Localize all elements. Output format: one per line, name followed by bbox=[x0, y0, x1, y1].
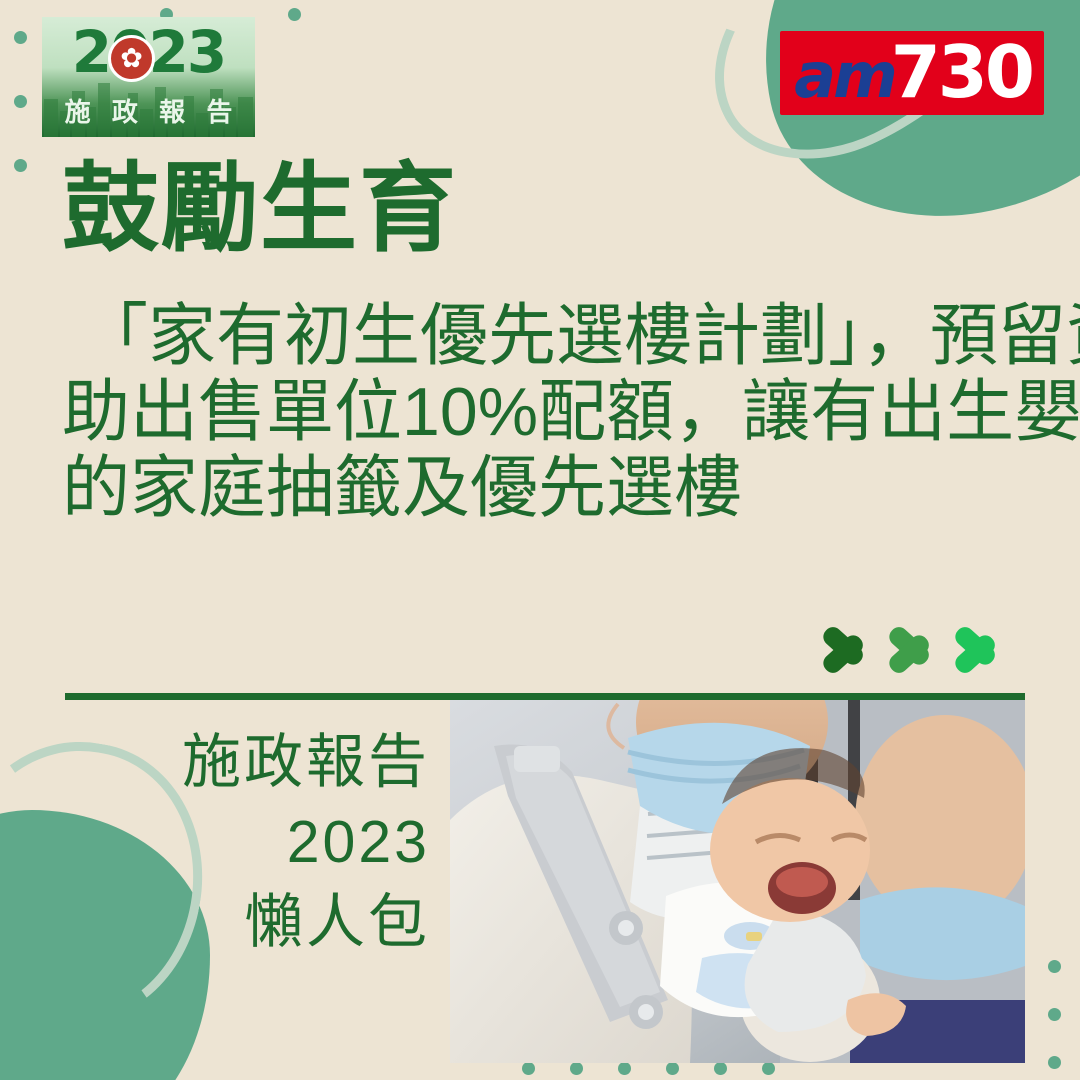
chevron-right-icon bbox=[892, 612, 926, 688]
chevron-right-icon bbox=[826, 612, 860, 688]
caption-line-1: 施政報告 bbox=[120, 722, 430, 802]
decorative-dot bbox=[14, 95, 27, 108]
decorative-dot bbox=[1048, 1008, 1061, 1021]
am730-logo-730: 730 bbox=[891, 30, 1032, 114]
logo-subtitle: 施 政 報 告 bbox=[42, 92, 255, 129]
caption-line-3: 懶人包 bbox=[120, 882, 430, 962]
body-line-2: 助出售單位10%配額，讓有出生嬰兒 bbox=[62, 374, 1032, 450]
photo-illustration bbox=[450, 700, 1025, 1063]
decorative-dot bbox=[618, 1062, 631, 1075]
social-card: 2023 ✿ 施 政 報 告 am730 鼓勵生育 「家有初生優先選樓計劃」，預… bbox=[0, 0, 1080, 1080]
decorative-dot bbox=[714, 1062, 727, 1075]
divider-line bbox=[65, 693, 1025, 700]
decorative-dot bbox=[762, 1062, 775, 1075]
decorative-dot bbox=[666, 1062, 679, 1075]
policy-address-logo: 2023 ✿ 施 政 報 告 bbox=[42, 17, 255, 137]
page-title: 鼓勵生育 bbox=[62, 158, 458, 260]
decorative-dot bbox=[1048, 960, 1061, 973]
chevron-arrows-group bbox=[826, 612, 1036, 688]
decorative-dot bbox=[570, 1062, 583, 1075]
decorative-dot bbox=[14, 31, 27, 44]
caption-line-2: 2023 bbox=[120, 802, 430, 882]
decorative-dot bbox=[288, 8, 301, 21]
am730-logo[interactable]: am730 bbox=[780, 31, 1044, 115]
decorative-dot bbox=[14, 159, 27, 172]
article-photo bbox=[450, 700, 1025, 1063]
series-caption: 施政報告 2023 懶人包 bbox=[120, 722, 430, 962]
body-line-3: 的家庭抽籤及優先選樓 bbox=[62, 450, 1032, 526]
am730-logo-am: am bbox=[794, 39, 894, 112]
body-text: 「家有初生優先選樓計劃」，預留資 助出售單位10%配額，讓有出生嬰兒 的家庭抽籤… bbox=[62, 298, 1032, 526]
body-line-1: 「家有初生優先選樓計劃」，預留資 bbox=[62, 298, 1032, 374]
decorative-dot bbox=[1048, 1056, 1061, 1069]
bauhinia-emblem-icon: ✿ bbox=[108, 35, 155, 82]
chevron-right-icon bbox=[958, 612, 992, 688]
decorative-dot bbox=[522, 1062, 535, 1075]
